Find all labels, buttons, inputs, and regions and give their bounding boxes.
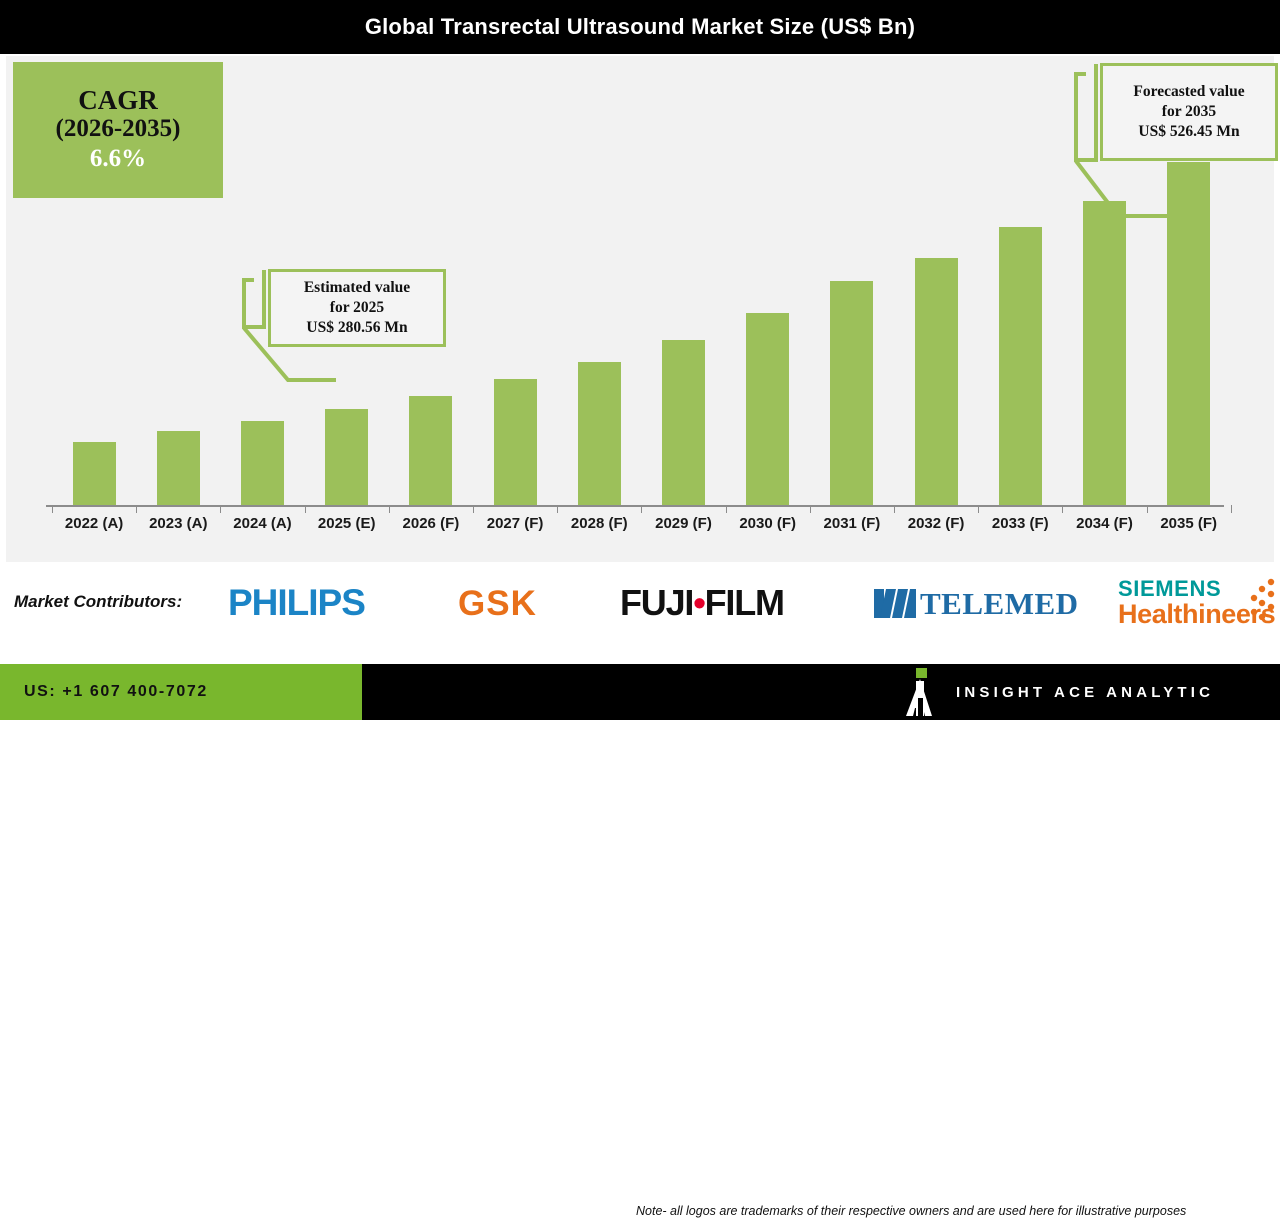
market-contributors-strip: Market Contributors: PHILIPS GSK FUJI•FI…: [0, 564, 1280, 654]
x-axis-tick: [641, 505, 642, 513]
footer-phone-number[interactable]: US: +1 607 400-7072: [24, 683, 208, 701]
bar-2035: [1167, 162, 1210, 505]
bar-2033: [999, 227, 1042, 505]
x-axis-tick: [978, 505, 979, 513]
bar-2023: [157, 431, 200, 505]
x-axis-label: 2023 (A): [136, 515, 220, 532]
chart-panel: CAGR (2026-2035) 6.6% 2022 (A)2023 (A)20…: [6, 56, 1274, 562]
insight-ace-brand-text: INSIGHT ACE ANALYTIC: [956, 684, 1214, 701]
bar-chart-plot: 2022 (A)2023 (A)2024 (A)2025 (E)2026 (F)…: [6, 56, 1274, 562]
page-title: Global Transrectal Ultrasound Market Siz…: [365, 14, 915, 40]
x-axis-tick: [1062, 505, 1063, 513]
x-axis-label: 2027 (F): [473, 515, 557, 532]
x-axis-tick: [52, 505, 53, 513]
x-axis-label: 2032 (F): [894, 515, 978, 532]
x-axis-label: 2035 (F): [1147, 515, 1231, 532]
x-axis-tick: [726, 505, 727, 513]
logos-disclaimer-note: Note- all logos are trademarks of their …: [636, 1204, 1186, 1218]
x-axis-tick: [1147, 505, 1148, 513]
callout-estimated-line3: US$ 280.56 Mn: [306, 318, 407, 338]
telemed-logo: TELEMED: [920, 586, 1079, 622]
callout-estimated-2025: Estimated value for 2025 US$ 280.56 Mn: [268, 269, 446, 347]
x-axis-tick: [894, 505, 895, 513]
x-axis-label: 2030 (F): [726, 515, 810, 532]
callout-forecasted-line3: US$ 526.45 Mn: [1138, 122, 1239, 142]
x-axis-tick: [473, 505, 474, 513]
gsk-logo: GSK: [458, 584, 537, 624]
bar-2034: [1083, 201, 1126, 505]
bar-2022: [73, 442, 116, 505]
x-axis-tick: [810, 505, 811, 513]
x-axis-tick: [305, 505, 306, 513]
x-axis-line: [46, 505, 1224, 507]
fujifilm-logo: FUJI•FILM: [620, 582, 784, 624]
x-axis-tick: [1231, 505, 1232, 513]
market-contributors-label: Market Contributors:: [14, 592, 182, 612]
bar-2026: [409, 396, 452, 505]
insight-ace-logo-icon: [903, 668, 937, 716]
bar-2031: [830, 281, 873, 505]
siemens-dots-icon: [1245, 576, 1279, 622]
x-axis-label: 2026 (F): [389, 515, 473, 532]
bar-2030: [746, 313, 789, 505]
x-axis-label: 2034 (F): [1062, 515, 1146, 532]
x-axis-label: 2022 (A): [52, 515, 136, 532]
callout-forecasted-2035: Forecasted value for 2035 US$ 526.45 Mn: [1100, 63, 1278, 161]
bar-2025: [325, 409, 368, 505]
bar-2024: [241, 421, 284, 505]
telemed-mark-icon: [872, 587, 916, 620]
callout-estimated-line2: for 2025: [330, 298, 384, 318]
x-axis-label: 2028 (F): [557, 515, 641, 532]
x-axis-label: 2025 (E): [305, 515, 389, 532]
callout-forecasted-line1: Forecasted value: [1133, 82, 1244, 102]
x-axis-tick: [136, 505, 137, 513]
x-axis-tick: [220, 505, 221, 513]
x-axis-tick: [389, 505, 390, 513]
callout-estimated-line1: Estimated value: [304, 278, 410, 298]
philips-logo: PHILIPS: [228, 582, 365, 624]
bar-2028: [578, 362, 621, 505]
x-axis-label: 2033 (F): [978, 515, 1062, 532]
bar-2027: [494, 379, 537, 505]
bar-2032: [915, 258, 958, 505]
x-axis-label: 2024 (A): [220, 515, 304, 532]
x-axis-tick: [557, 505, 558, 513]
page-header: Global Transrectal Ultrasound Market Siz…: [0, 0, 1280, 54]
bar-2029: [662, 340, 705, 505]
callout-forecasted-line2: for 2035: [1162, 102, 1216, 122]
x-axis-label: 2031 (F): [810, 515, 894, 532]
x-axis-label: 2029 (F): [641, 515, 725, 532]
